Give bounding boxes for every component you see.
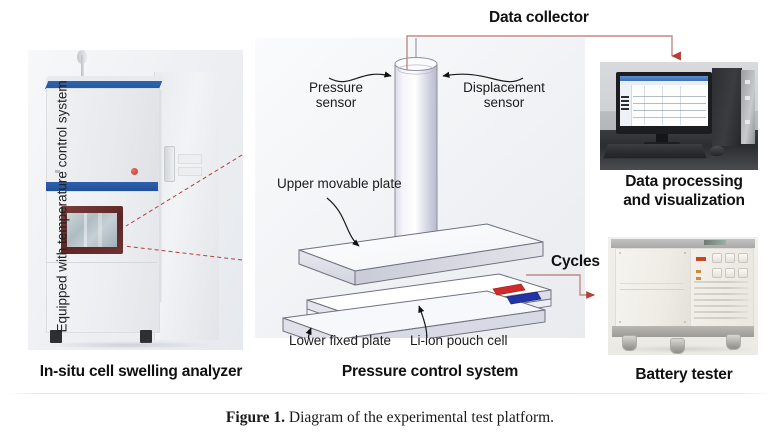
chart-trace-1 <box>633 96 706 97</box>
displacement-sensor-label: Displacement sensor <box>450 80 558 110</box>
software-toolbar <box>620 81 708 85</box>
battery-tester-left-door <box>615 248 692 328</box>
battery-tester-top-panel <box>611 239 755 248</box>
battery-tester-knob-1 <box>712 253 722 263</box>
data-collector-label: Data collector <box>489 9 589 26</box>
chart-gridline-1 <box>644 86 645 125</box>
battery-tester-vent-7 <box>694 317 748 319</box>
computer-mouse <box>710 146 724 156</box>
right-top-caption-line1: Data processing <box>598 173 770 190</box>
battery-tester-knob-4 <box>712 268 722 278</box>
battery-tester-photo <box>608 237 758 355</box>
battery-tester-door-seam-1 <box>620 283 684 284</box>
computer-keyboard <box>603 144 706 158</box>
computer-tower-slot-1 <box>745 80 750 84</box>
left-panel-caption: In-situ cell swelling analyzer <box>6 363 276 380</box>
center-panel-caption: Pressure control system <box>285 363 575 380</box>
figure-page: Equipped with temperature control system… <box>0 0 780 443</box>
software-sidebar <box>620 85 632 126</box>
sidebar-bar-1 <box>621 96 629 98</box>
battery-tester-vent-4 <box>694 299 748 301</box>
pressure-sensor-label: Pressure sensor <box>290 80 382 110</box>
battery-tester-vent-2 <box>694 287 748 289</box>
battery-tester-led-1 <box>696 270 701 273</box>
battery-tester-screw-3 <box>619 321 621 323</box>
figure-image-area: Equipped with temperature control system… <box>0 0 780 400</box>
li-ion-pouch-cell-label: Li-ion pouch cell <box>410 333 508 348</box>
computer-tower <box>712 68 742 146</box>
caption-bar: Figure 1. Diagram of the experimental te… <box>0 400 780 443</box>
chart-trace-2 <box>633 103 706 104</box>
battery-tester-vent-1 <box>694 281 748 283</box>
sidebar-bar-4 <box>621 108 629 110</box>
battery-tester-vent-3 <box>694 293 748 295</box>
computer-monitor <box>616 72 712 134</box>
figure-caption-body: Diagram of the experimental test platfor… <box>285 409 554 426</box>
battery-tester-knob-3 <box>738 253 748 263</box>
computer-tower-slot-2 <box>745 96 750 100</box>
battery-tester-led-2 <box>696 277 701 280</box>
figure-caption: Figure 1. Diagram of the experimental te… <box>0 409 780 427</box>
chart-trace-4 <box>633 117 706 118</box>
sidebar-bar-2 <box>621 100 629 102</box>
battery-tester-knob-6 <box>738 268 748 278</box>
right-top-caption-line2: and visualization <box>598 192 770 209</box>
monitor-screen <box>620 76 708 126</box>
battery-tester-display <box>704 240 726 245</box>
battery-tester-knob-2 <box>725 253 735 263</box>
chart-gridline-3 <box>680 86 681 125</box>
chart-trace-3 <box>633 110 706 111</box>
battery-tester-door-seam-2 <box>620 289 684 290</box>
computer-tower-slot-3 <box>745 120 750 124</box>
figure-caption-label: Figure 1. <box>226 409 285 426</box>
caption-divider <box>8 393 772 394</box>
battery-tester-ground-shadow <box>608 345 758 353</box>
cycles-connector <box>524 268 610 304</box>
battery-tester-knob-5 <box>725 268 735 278</box>
battery-tester-vent-5 <box>694 305 748 307</box>
battery-tester-screw-2 <box>684 252 686 254</box>
battery-tester-screw-1 <box>619 252 621 254</box>
battery-tester-brand-label <box>696 257 706 261</box>
battery-tester-screw-4 <box>684 321 686 323</box>
battery-tester-vent-6 <box>694 311 748 313</box>
upper-movable-plate-label: Upper movable plate <box>277 176 402 191</box>
sidebar-bar-3 <box>621 104 629 106</box>
lower-fixed-plate-label: Lower fixed plate <box>289 333 391 348</box>
data-processing-computer-photo <box>600 62 758 170</box>
chart-gridline-2 <box>662 86 663 125</box>
analyzer-vertical-caption: Equipped with temperature control system <box>55 83 70 333</box>
right-bottom-caption: Battery tester <box>598 366 770 383</box>
